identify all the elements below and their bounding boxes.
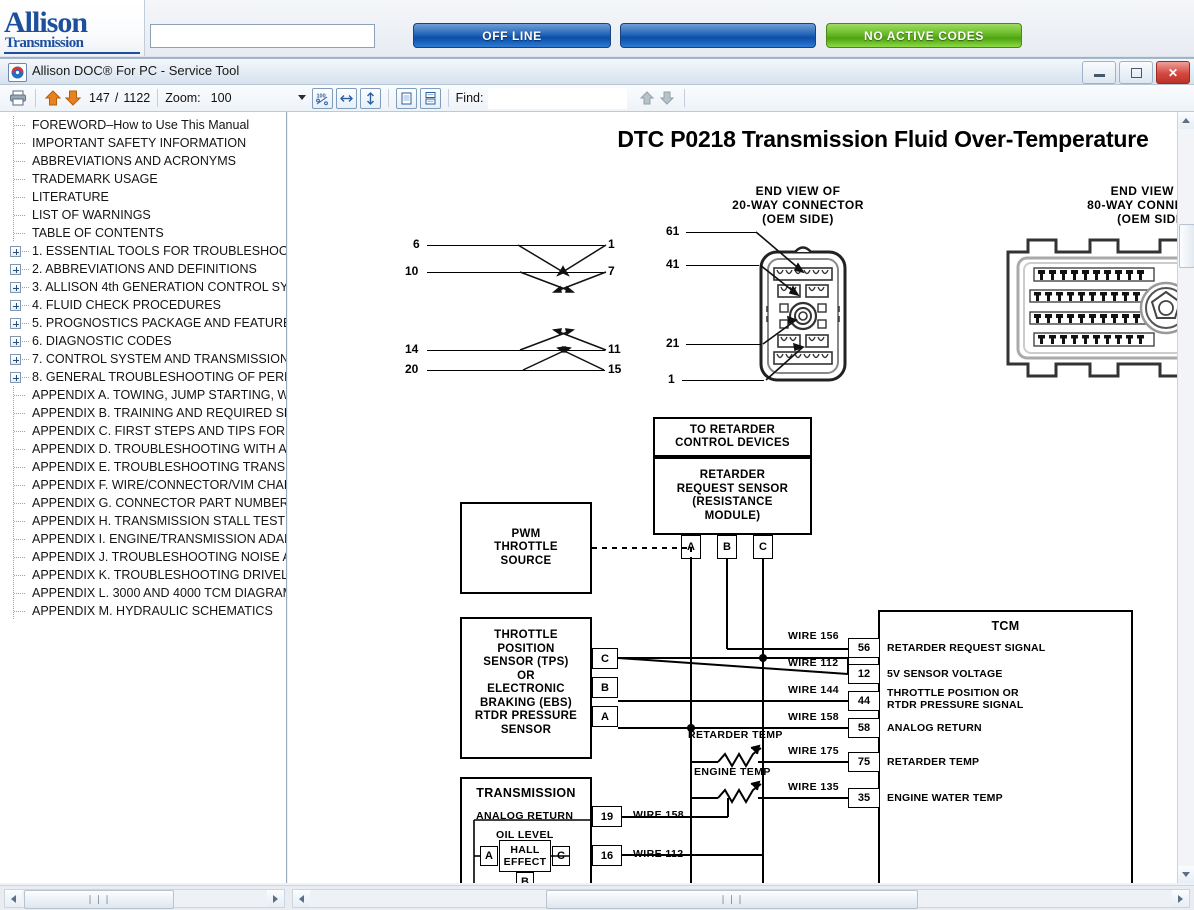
document-horizontal-scrollbar[interactable]: ❘❘❘ — [292, 889, 1190, 908]
tree-item[interactable]: APPENDIX F. WIRE/CONNECTOR/VIM CHART — [0, 476, 286, 494]
tree-branch-guide — [10, 476, 32, 494]
find-previous-button[interactable] — [637, 88, 657, 108]
tree-item-label: APPENDIX M. HYDRAULIC SCHEMATICS — [32, 604, 273, 618]
tree-item[interactable]: LITERATURE — [0, 188, 286, 206]
maximize-button[interactable] — [1119, 61, 1153, 84]
tree-branch-guide — [10, 152, 32, 170]
tree-item[interactable]: TRADEMARK USAGE — [0, 170, 286, 188]
page-separator: / — [115, 91, 118, 105]
caret-up-icon — [1182, 118, 1190, 123]
plus-icon[interactable] — [10, 372, 21, 383]
tree-branch-guide — [10, 170, 32, 188]
pwm-dashed-horizontal — [592, 547, 692, 549]
close-icon: ✕ — [1168, 66, 1178, 80]
tree-item[interactable]: APPENDIX B. TRAINING AND REQUIRED SKIL — [0, 404, 286, 422]
tree-branch-guide — [10, 584, 32, 602]
close-button[interactable]: ✕ — [1156, 61, 1190, 84]
plus-icon[interactable] — [10, 336, 21, 347]
tree-branch-guide — [10, 566, 32, 584]
tree-dash — [14, 557, 25, 558]
document-viewer-pane[interactable]: DTC P0218 Transmission Fluid Over-Temper… — [288, 112, 1194, 883]
tree-dash — [14, 395, 25, 396]
find-next-button[interactable] — [657, 88, 677, 108]
tree-dash — [22, 377, 29, 378]
tree-branch-guide — [10, 494, 32, 512]
chevron-down-icon — [298, 95, 306, 100]
tree-item[interactable]: APPENDIX E. TROUBLESHOOTING TRANSMI — [0, 458, 286, 476]
tree-scroll-left-button[interactable] — [5, 890, 22, 907]
zoom-value: 100 — [208, 91, 232, 105]
tree-dash — [14, 179, 25, 180]
caret-left-icon-2 — [299, 895, 304, 903]
doc-scroll-track[interactable]: ❘❘❘ — [310, 890, 1172, 907]
tree-item-label: APPENDIX D. TROUBLESHOOTING WITH A D — [32, 442, 286, 456]
tree-dash — [14, 521, 25, 522]
allison-logo-line2: Transmission — [5, 36, 83, 51]
status-no-active-codes-button[interactable]: NO ACTIVE CODES — [826, 23, 1022, 48]
tree-item-label: TABLE OF CONTENTS — [32, 226, 164, 240]
vertical-scroll-thumb[interactable] — [1179, 224, 1194, 268]
up-arrow-icon — [45, 90, 61, 106]
tree-item-label: APPENDIX K. TROUBLESHOOTING DRIVELIN — [32, 568, 286, 582]
caret-right-icon — [273, 895, 278, 903]
tree-item[interactable]: 2. ABBREVIATIONS AND DEFINITIONS — [0, 260, 286, 278]
printer-icon — [9, 90, 27, 106]
tree-item[interactable]: 8. GENERAL TROUBLESHOOTING OF PERFO — [0, 368, 286, 386]
tree-branch-guide — [10, 602, 32, 620]
tree-expand-toggle[interactable] — [10, 296, 32, 314]
tree-dash — [14, 611, 25, 612]
tree-item[interactable]: APPENDIX I. ENGINE/TRANSMISSION ADAPT — [0, 530, 286, 548]
minimize-icon — [1094, 74, 1105, 77]
service-tool-window: Allison DOC® For PC - Service Tool ✕ — [0, 58, 1194, 910]
tree-item-label: 1. ESSENTIAL TOOLS FOR TROUBLESHOOTI — [32, 244, 286, 258]
tree-scroll-grip: ❘❘❘ — [86, 894, 112, 905]
tree-item[interactable]: 4. FLUID CHECK PROCEDURES — [0, 296, 286, 314]
tree-item[interactable]: 3. ALLISON 4th GENERATION CONTROL SYST — [0, 278, 286, 296]
tree-item-label: APPENDIX J. TROUBLESHOOTING NOISE AN — [32, 550, 286, 564]
maximize-icon — [1131, 68, 1142, 78]
tree-item[interactable]: ABBREVIATIONS AND ACRONYMS — [0, 152, 286, 170]
tree-item[interactable]: 1. ESSENTIAL TOOLS FOR TROUBLESHOOTI — [0, 242, 286, 260]
tree-item[interactable]: APPENDIX H. TRANSMISSION STALL TEST — [0, 512, 286, 530]
allison-logo: Allison Transmission — [0, 0, 145, 56]
tree-branch-guide — [10, 386, 32, 404]
tree-dash — [14, 215, 25, 216]
tree-item[interactable]: APPENDIX K. TROUBLESHOOTING DRIVELIN — [0, 566, 286, 584]
find-label: Find: — [456, 91, 484, 105]
tree-item[interactable]: 5. PROGNOSTICS PACKAGE AND FEATURES — [0, 314, 286, 332]
doc-scroll-right-button[interactable] — [1172, 890, 1189, 907]
previous-page-button[interactable] — [43, 88, 63, 108]
tree-item[interactable]: 6. DIAGNOSTIC CODES — [0, 332, 286, 350]
tree-horizontal-scrollbar[interactable]: ❘❘❘ — [4, 889, 285, 908]
window-title: Allison DOC® For PC - Service Tool — [32, 63, 239, 78]
scroll-up-button[interactable] — [1178, 112, 1194, 129]
brand-banner: Allison Transmission OFF LINE NO ACTIVE … — [0, 0, 1194, 58]
allison-logo-line1: Allison — [4, 8, 87, 38]
tree-branch-guide — [10, 422, 32, 440]
tree-scroll-track[interactable]: ❘❘❘ — [22, 890, 267, 907]
status-offline-button[interactable]: OFF LINE — [413, 23, 611, 48]
tree-item-label: APPENDIX G. CONNECTOR PART NUMBERS — [32, 496, 286, 510]
tree-item[interactable]: 7. CONTROL SYSTEM AND TRANSMISSION S — [0, 350, 286, 368]
single-page-button[interactable] — [396, 88, 417, 109]
document-page: DTC P0218 Transmission Fluid Over-Temper… — [288, 112, 1194, 883]
tree-item[interactable]: LIST OF WARNINGS — [0, 206, 286, 224]
tree-item-label: APPENDIX A. TOWING, JUMP STARTING, WE — [32, 388, 286, 402]
tree-branch-guide — [10, 224, 32, 242]
tree-item-label: LIST OF WARNINGS — [32, 208, 151, 222]
tree-branch-guide — [10, 404, 32, 422]
toolbar-separator-3 — [388, 89, 389, 107]
tree-dash — [14, 575, 25, 576]
plus-icon[interactable] — [10, 246, 21, 257]
allison-logo-rule — [4, 52, 140, 54]
doc-scroll-grip: ❘❘❘ — [719, 894, 745, 905]
tree-item-label: 4. FLUID CHECK PROCEDURES — [32, 298, 221, 312]
app-icon — [8, 63, 27, 82]
tree-item[interactable]: APPENDIX D. TROUBLESHOOTING WITH A D — [0, 440, 286, 458]
continuous-page-icon — [423, 91, 438, 106]
tree-dash — [14, 467, 25, 468]
tree-item-label: APPENDIX F. WIRE/CONNECTOR/VIM CHART — [32, 478, 286, 492]
tree-dash — [14, 503, 25, 504]
tree-item-label: TRADEMARK USAGE — [32, 172, 158, 186]
tree-dash — [22, 287, 29, 288]
fit-width-icon — [339, 91, 354, 106]
toolbar-separator-5 — [684, 89, 685, 107]
tree-item-label: 5. PROGNOSTICS PACKAGE AND FEATURES — [32, 316, 286, 330]
tree-branch-guide — [10, 440, 32, 458]
next-page-button[interactable] — [63, 88, 83, 108]
tree-item-label: APPENDIX C. FIRST STEPS AND TIPS FOR TR — [32, 424, 286, 438]
scroll-down-button[interactable] — [1178, 866, 1194, 883]
tree-dash — [14, 539, 25, 540]
tree-item[interactable]: IMPORTANT SAFETY INFORMATION — [0, 134, 286, 152]
caret-down-icon — [1182, 872, 1190, 877]
tree-dash — [14, 431, 25, 432]
schematic-wiring — [288, 112, 1194, 883]
tree-dash — [22, 269, 29, 270]
tree-branch-guide — [10, 548, 32, 566]
tree-item-label: APPENDIX I. ENGINE/TRANSMISSION ADAPT — [32, 532, 286, 546]
fit-height-icon — [363, 91, 378, 106]
tree-dash — [22, 323, 29, 324]
tree-scroll-thumb[interactable]: ❘❘❘ — [24, 890, 174, 909]
tree-item-label: FOREWORD–How to Use This Manual — [32, 118, 249, 132]
doc-scroll-left-button[interactable] — [293, 890, 310, 907]
find-input[interactable] — [488, 88, 627, 109]
minimize-button[interactable] — [1082, 61, 1116, 84]
tree-branch-guide — [10, 458, 32, 476]
navigation-tree: FOREWORD–How to Use This ManualIMPORTANT… — [0, 112, 286, 620]
tree-item-label: APPENDIX E. TROUBLESHOOTING TRANSMI — [32, 460, 286, 474]
tree-expand-toggle[interactable] — [10, 314, 32, 332]
tree-item-label: 8. GENERAL TROUBLESHOOTING OF PERFO — [32, 370, 286, 384]
tree-item-label: APPENDIX B. TRAINING AND REQUIRED SKIL — [32, 406, 286, 420]
tree-dash — [14, 125, 25, 126]
fit-height-button[interactable] — [360, 88, 381, 109]
tree-dash — [14, 413, 25, 414]
tree-item[interactable]: APPENDIX J. TROUBLESHOOTING NOISE AN — [0, 548, 286, 566]
tree-item-label: 3. ALLISON 4th GENERATION CONTROL SYST — [32, 280, 286, 294]
down-arrow-icon — [65, 90, 81, 106]
tree-item-label: ABBREVIATIONS AND ACRONYMS — [32, 154, 236, 168]
tree-dash — [22, 251, 29, 252]
tree-dash — [22, 359, 29, 360]
tree-dash — [14, 161, 25, 162]
plus-icon[interactable] — [10, 300, 21, 311]
find-up-arrow-icon — [639, 90, 655, 106]
tree-branch-guide — [10, 206, 32, 224]
window-titlebar: Allison DOC® For PC - Service Tool ✕ — [0, 59, 1194, 85]
plus-icon[interactable] — [10, 354, 21, 365]
continuous-page-button[interactable] — [420, 88, 441, 109]
zoom-label: Zoom: — [165, 91, 200, 105]
window-controls: ✕ — [1082, 61, 1190, 84]
tree-expand-toggle[interactable] — [10, 242, 32, 260]
tree-dash — [14, 485, 25, 486]
tree-expand-toggle[interactable] — [10, 332, 32, 350]
toolbar-separator-2 — [157, 89, 158, 107]
plus-icon[interactable] — [10, 282, 21, 293]
plus-icon[interactable] — [10, 318, 21, 329]
tree-dash — [14, 449, 25, 450]
tree-item[interactable]: APPENDIX G. CONNECTOR PART NUMBERS — [0, 494, 286, 512]
status-blank-button[interactable] — [620, 23, 816, 48]
tree-dash — [22, 341, 29, 342]
tree-item[interactable]: FOREWORD–How to Use This Manual — [0, 116, 286, 134]
tree-expand-toggle[interactable] — [10, 278, 32, 296]
fit-percent-icon: 100 — [315, 91, 330, 106]
tree-item-label: APPENDIX H. TRANSMISSION STALL TEST — [32, 514, 285, 528]
tree-item-label: 6. DIAGNOSTIC CODES — [32, 334, 172, 348]
tree-expand-toggle[interactable] — [10, 368, 32, 386]
tree-item-label: IMPORTANT SAFETY INFORMATION — [32, 136, 246, 150]
tree-scroll-right-button[interactable] — [267, 890, 284, 907]
zoom-combobox[interactable]: 100 — [208, 88, 308, 108]
toolbar-separator-4 — [448, 89, 449, 107]
tree-item-label: APPENDIX L. 3000 AND 4000 TCM DIAGRAM — [32, 586, 286, 600]
tree-expand-toggle[interactable] — [10, 350, 32, 368]
single-page-icon — [399, 91, 414, 106]
tree-item[interactable]: TABLE OF CONTENTS — [0, 224, 286, 242]
doc-scroll-thumb[interactable]: ❘❘❘ — [546, 890, 918, 909]
tree-item[interactable]: APPENDIX L. 3000 AND 4000 TCM DIAGRAM — [0, 584, 286, 602]
toolbar-separator-1 — [35, 89, 36, 107]
tree-dash — [14, 233, 25, 234]
tree-branch-guide — [10, 188, 32, 206]
tree-branch-guide — [10, 116, 32, 134]
tree-dash — [14, 143, 25, 144]
find-down-arrow-icon — [659, 90, 675, 106]
pwm-dashed-vertical — [690, 547, 692, 697]
tree-item[interactable]: APPENDIX M. HYDRAULIC SCHEMATICS — [0, 602, 286, 620]
plus-icon[interactable] — [10, 264, 21, 275]
caret-left-icon — [11, 895, 16, 903]
tree-branch-guide — [10, 530, 32, 548]
tree-dash — [22, 305, 29, 306]
tree-item-label: 2. ABBREVIATIONS AND DEFINITIONS — [32, 262, 257, 276]
vin-input[interactable] — [150, 24, 375, 48]
fit-width-button[interactable] — [336, 88, 357, 109]
page-total: 1122 — [123, 91, 150, 105]
document-toolbar: 147 / 1122 Zoom: 100 100 — [0, 85, 1194, 112]
application-root: Allison Transmission OFF LINE NO ACTIVE … — [0, 0, 1194, 910]
tree-branch-guide — [10, 134, 32, 152]
tree-branch-guide — [10, 512, 32, 530]
tree-item[interactable]: APPENDIX A. TOWING, JUMP STARTING, WE — [0, 386, 286, 404]
tree-dash — [14, 197, 25, 198]
tree-item[interactable]: APPENDIX C. FIRST STEPS AND TIPS FOR TR — [0, 422, 286, 440]
fit-percent-button[interactable]: 100 — [312, 88, 333, 109]
page-current: 147 — [89, 91, 110, 105]
tree-expand-toggle[interactable] — [10, 260, 32, 278]
tree-item-label: 7. CONTROL SYSTEM AND TRANSMISSION S — [32, 352, 286, 366]
document-vertical-scrollbar[interactable] — [1177, 112, 1194, 883]
print-button[interactable] — [8, 88, 28, 108]
tree-dash — [14, 593, 25, 594]
tree-item-label: LITERATURE — [32, 190, 109, 204]
caret-right-icon-2 — [1178, 895, 1183, 903]
navigation-tree-pane[interactable]: FOREWORD–How to Use This ManualIMPORTANT… — [0, 112, 287, 883]
